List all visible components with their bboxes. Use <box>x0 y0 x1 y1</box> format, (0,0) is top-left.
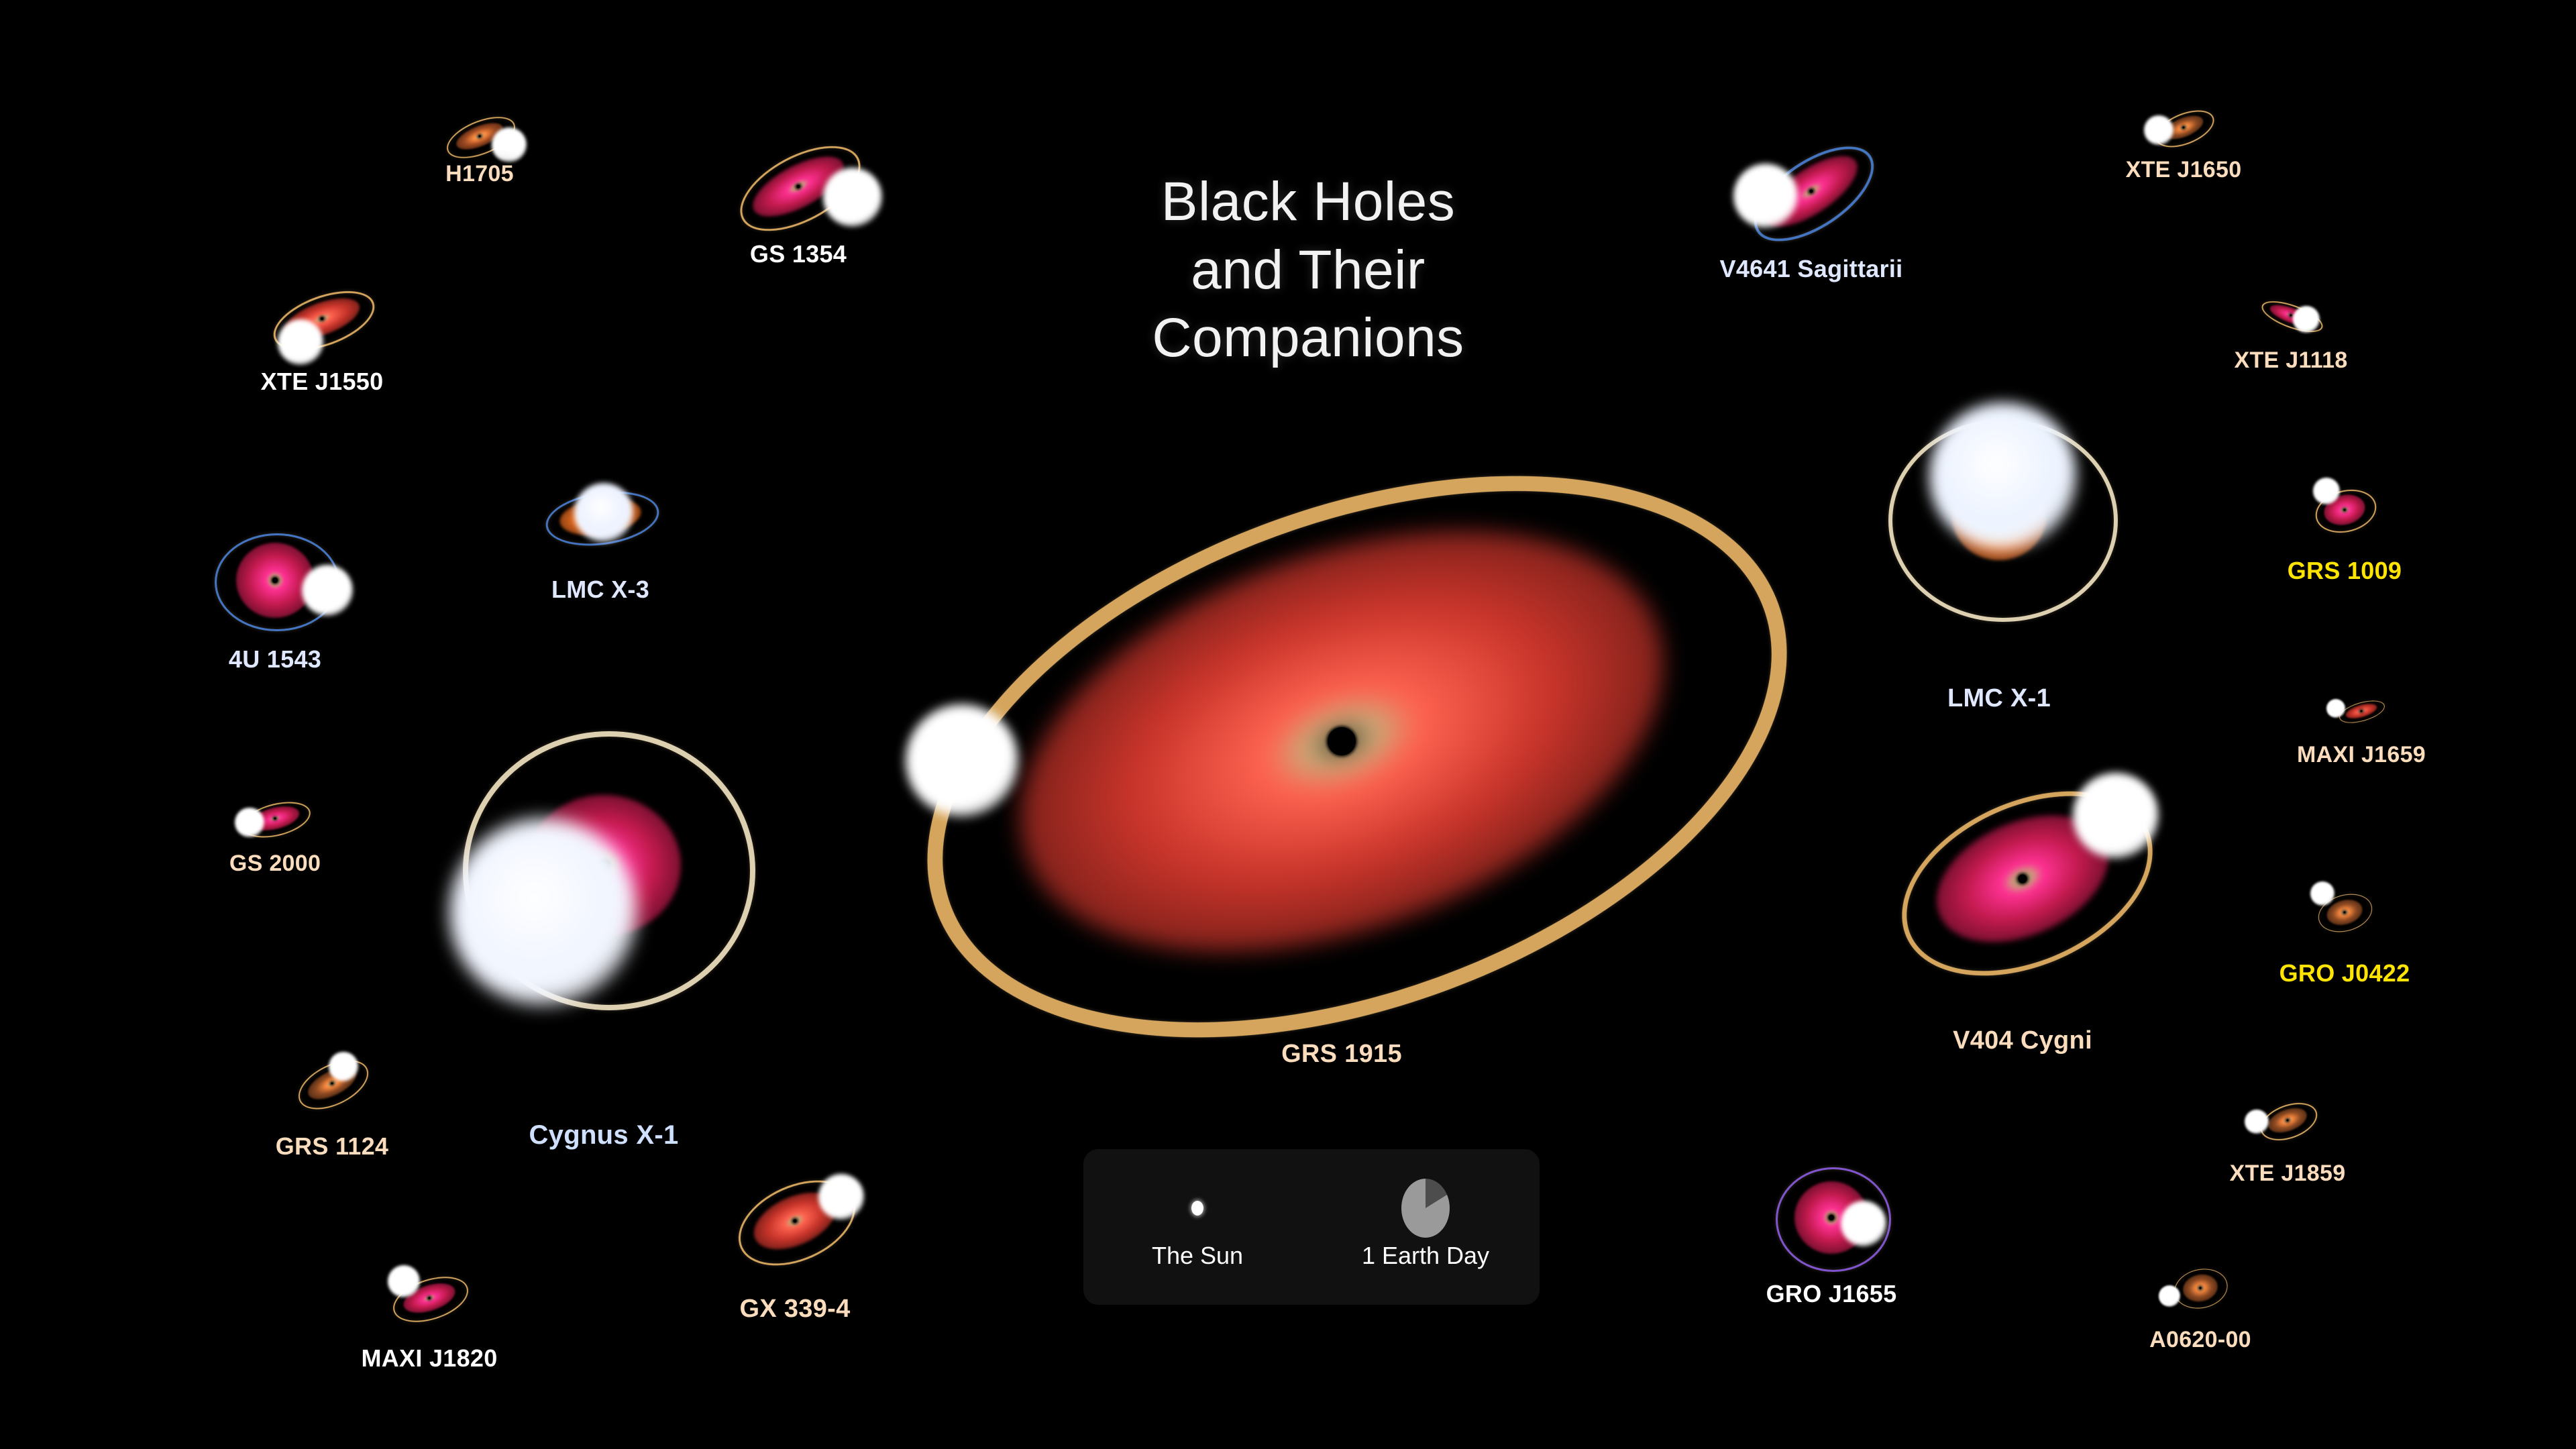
black-hole-dot <box>2290 315 2292 317</box>
system-label-xtej1118: XTE J1118 <box>2234 347 2347 374</box>
system-graphic <box>1724 141 1898 241</box>
black-hole-system-gs2000[interactable]: GS 2000 <box>228 792 322 845</box>
black-hole-dot <box>321 317 323 320</box>
black-hole-system-maxij1820[interactable]: MAXI J1820 <box>376 1261 483 1335</box>
black-hole-system-xtej1550[interactable]: XTE J1550 <box>262 282 382 356</box>
companion-star <box>449 818 637 1006</box>
black-hole-system-v4641[interactable]: V4641 Sagittarii <box>1724 141 1898 241</box>
black-hole-dot <box>797 185 800 189</box>
system-graphic <box>262 282 382 356</box>
black-hole-system-xtej1859[interactable]: XTE J1859 <box>2241 1087 2334 1154</box>
system-label-grs1009: GRS 1009 <box>2288 557 2402 585</box>
companion-star <box>818 1174 864 1220</box>
system-graphic <box>376 1261 483 1335</box>
black-hole-dot <box>2344 509 2346 511</box>
companion-star <box>2073 773 2159 859</box>
system-label-h1705: H1705 <box>445 161 514 187</box>
system-label-xtej1859: XTE J1859 <box>2230 1161 2346 1187</box>
system-label-maxij1659: MAXI J1659 <box>2297 742 2426 768</box>
system-label-cygnusx1: Cygnus X-1 <box>529 1120 678 1150</box>
black-hole-dot <box>274 818 276 820</box>
system-label-xtej1550: XTE J1550 <box>261 368 384 396</box>
black-hole-system-xtej1650[interactable]: XTE J1650 <box>2140 101 2227 154</box>
system-graphic <box>439 113 520 160</box>
system-graphic <box>879 463 1805 1020</box>
system-graphic <box>201 530 349 631</box>
black-hole-system-a062000[interactable]: A0620-00 <box>2153 1254 2247 1322</box>
black-hole-system-gs1354[interactable]: GS 1354 <box>721 146 875 227</box>
black-hole-dot <box>2361 710 2363 712</box>
system-graphic <box>718 1167 872 1275</box>
black-hole-system-v404cygni[interactable]: V404 Cygni <box>1872 765 2173 993</box>
companion-star <box>1929 402 2077 550</box>
black-hole-dot <box>2200 1287 2202 1289</box>
system-label-v404cygni: V404 Cygni <box>1953 1026 2092 1055</box>
system-graphic <box>2241 1087 2334 1154</box>
black-hole-system-4u1543[interactable]: 4U 1543 <box>201 530 349 631</box>
system-graphic <box>282 1046 382 1120</box>
system-graphic <box>1872 765 2173 993</box>
system-label-grs1124: GRS 1124 <box>276 1132 389 1161</box>
legend-caption-sun: The Sun <box>1152 1242 1243 1270</box>
legend-panel: The Sun 1 Earth Day <box>1083 1149 1540 1305</box>
black-hole-dot <box>331 1083 333 1085</box>
system-label-groj1655: GRO J1655 <box>1766 1280 1897 1308</box>
companion-star <box>906 704 1018 817</box>
companion-star <box>2293 306 2320 333</box>
system-label-v4641: V4641 Sagittarii <box>1720 255 1903 283</box>
black-hole-dot <box>2344 912 2346 914</box>
black-hole-dot <box>1328 727 1356 755</box>
system-graphic <box>2153 1254 2247 1322</box>
system-graphic <box>1872 396 2127 637</box>
system-graphic <box>2301 476 2388 543</box>
black-hole-system-h1705[interactable]: H1705 <box>439 113 520 160</box>
system-graphic <box>2301 879 2388 946</box>
companion-star <box>388 1265 420 1297</box>
black-hole-system-groj1655[interactable]: GRO J1655 <box>1758 1167 1905 1268</box>
black-hole-dot <box>2019 875 2027 883</box>
black-hole-system-lmcx1[interactable]: LMC X-1 <box>1872 396 2127 637</box>
system-label-groj0422: GRO J0422 <box>2279 959 2410 987</box>
companion-star <box>2326 699 2345 718</box>
black-hole-dot <box>1829 1215 1834 1220</box>
system-graphic <box>530 470 671 563</box>
black-hole-dot <box>1810 190 1813 193</box>
system-label-gx3394: GX 339-4 <box>739 1295 850 1324</box>
system-graphic <box>429 691 778 1040</box>
legend-item-sun: The Sun <box>1083 1149 1311 1305</box>
system-label-lmcx1: LMC X-1 <box>1947 684 2051 713</box>
system-label-a062000: A0620-00 <box>2149 1327 2251 1353</box>
system-graphic <box>228 792 322 845</box>
black-hole-dot <box>429 1297 431 1299</box>
companion-star <box>329 1052 358 1081</box>
companion-star <box>2159 1285 2180 1307</box>
system-label-grs1915: GRS 1915 <box>1281 1040 1402 1069</box>
black-hole-dot <box>2287 1120 2289 1122</box>
companion-star <box>2245 1110 2269 1134</box>
companion-star <box>278 319 323 365</box>
system-label-lmcx3: LMC X-3 <box>551 576 649 604</box>
system-label-xtej1650: XTE J1650 <box>2126 157 2242 183</box>
black-hole-system-xtej1118[interactable]: XTE J1118 <box>2241 288 2341 342</box>
black-hole-system-gx3394[interactable]: GX 339-4 <box>718 1167 872 1275</box>
black-hole-dot <box>479 136 481 138</box>
black-hole-system-lmcx3[interactable]: LMC X-3 <box>530 470 671 563</box>
companion-star <box>2144 115 2173 145</box>
system-label-gs1354: GS 1354 <box>750 240 847 268</box>
companion-star <box>2313 478 2340 504</box>
sun-dot-icon <box>1191 1201 1203 1216</box>
system-graphic <box>2140 101 2227 154</box>
system-graphic <box>1758 1167 1905 1268</box>
black-hole-system-maxij1659[interactable]: MAXI J1659 <box>2321 684 2402 738</box>
system-label-gs2000: GS 2000 <box>229 851 321 877</box>
companion-star <box>574 483 633 542</box>
companion-star <box>302 565 353 616</box>
system-graphic <box>2321 684 2402 738</box>
page-title: Black Holes and Their Companions <box>1033 168 1583 372</box>
black-hole-system-groj0422[interactable]: GRO J0422 <box>2301 879 2388 946</box>
companion-star <box>2310 881 2334 906</box>
companion-star <box>492 127 527 162</box>
companion-star <box>1733 164 1798 228</box>
system-label-maxij1820: MAXI J1820 <box>361 1344 497 1373</box>
black-hole-system-cygnusx1[interactable]: Cygnus X-1 <box>429 691 778 1040</box>
sky-canvas: Black Holes and Their Companions H1705GS… <box>0 0 2576 1449</box>
system-graphic <box>721 146 875 227</box>
system-graphic <box>2241 288 2341 342</box>
day-disc-icon <box>1401 1179 1450 1238</box>
companion-star <box>1841 1201 1886 1246</box>
black-hole-dot <box>272 578 278 583</box>
black-hole-dot <box>2183 127 2185 129</box>
legend-item-earth-day: 1 Earth Day <box>1311 1149 1540 1305</box>
legend-caption-earth-day: 1 Earth Day <box>1362 1242 1489 1270</box>
companion-star <box>235 808 264 837</box>
black-hole-system-grs1124[interactable]: GRS 1124 <box>282 1046 382 1120</box>
companion-star <box>823 168 882 227</box>
black-hole-system-grs1915[interactable]: GRS 1915 <box>879 463 1805 1020</box>
system-label-4u1543: 4U 1543 <box>229 645 321 674</box>
black-hole-system-grs1009[interactable]: GRS 1009 <box>2301 476 2388 543</box>
black-hole-dot <box>794 1220 797 1223</box>
